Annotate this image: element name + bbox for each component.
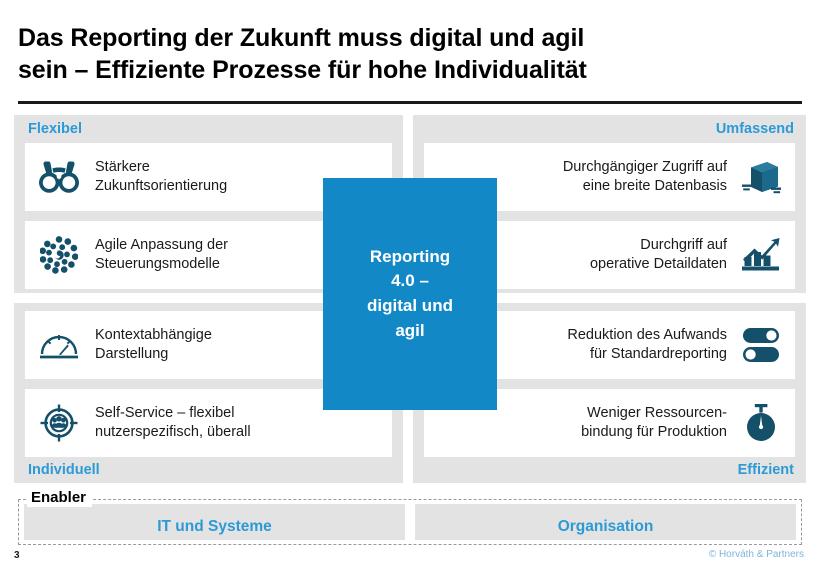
enabler-box-label: IT und Systeme (157, 508, 272, 536)
card-label: Reduktion des Aufwands für Standardrepor… (567, 326, 727, 365)
card-label: Weniger Ressourcen- bindung für Produkti… (581, 404, 727, 443)
binoculars-icon (37, 156, 81, 198)
data-cube-icon (739, 156, 783, 198)
page-title-line-2: sein – Effiziente Prozesse für hohe Indi… (18, 54, 802, 86)
quadrant-label-flexibel: Flexibel (28, 121, 82, 137)
card-label: Self-Service – flexibel nutzerspezifisch… (95, 404, 251, 443)
enabler-box-label: Organisation (558, 508, 654, 536)
toggle-switches-icon (739, 324, 783, 366)
target-people-icon (37, 402, 81, 444)
center-reporting-label: Reporting 4.0 – digital und agil (367, 245, 453, 344)
copyright-notice: © Horváth & Partners (709, 549, 804, 560)
enabler-section: Enabler IT und Systeme Organisation (18, 499, 802, 545)
enabler-box-it-und-systeme[interactable]: IT und Systeme (24, 504, 405, 540)
center-reporting-box[interactable]: Reporting 4.0 – digital und agil (323, 178, 497, 410)
quadrant-label-individuell: Individuell (28, 462, 100, 478)
page-title: Das Reporting der Zukunft muss digital u… (18, 22, 802, 87)
agile-spiral-dots-icon (37, 234, 81, 276)
growth-chart-icon (739, 234, 783, 276)
quadrant-label-umfassend: Umfassend (716, 121, 794, 137)
card-label: Stärkere Zukunftsorientierung (95, 158, 227, 197)
card-label: Durchgängiger Zugriff auf eine breite Da… (563, 158, 727, 197)
page-title-line-1: Das Reporting der Zukunft muss digital u… (18, 22, 802, 54)
card-label: Durchgriff auf operative Detaildaten (590, 236, 727, 275)
title-divider (18, 101, 802, 104)
quadrant-matrix: Flexibel Stärkere Zukunftsorientier (14, 115, 806, 483)
enabler-box-organisation[interactable]: Organisation (415, 504, 796, 540)
quadrant-label-effizient: Effizient (738, 462, 794, 478)
page-number: 3 (14, 550, 20, 561)
card-label: Agile Anpassung der Steuerungsmodelle (95, 236, 228, 275)
enabler-section-label: Enabler (27, 489, 92, 507)
card-label: Kontextabhängige Darstellung (95, 326, 212, 365)
stopwatch-icon (739, 402, 783, 444)
gauge-icon (37, 324, 81, 366)
